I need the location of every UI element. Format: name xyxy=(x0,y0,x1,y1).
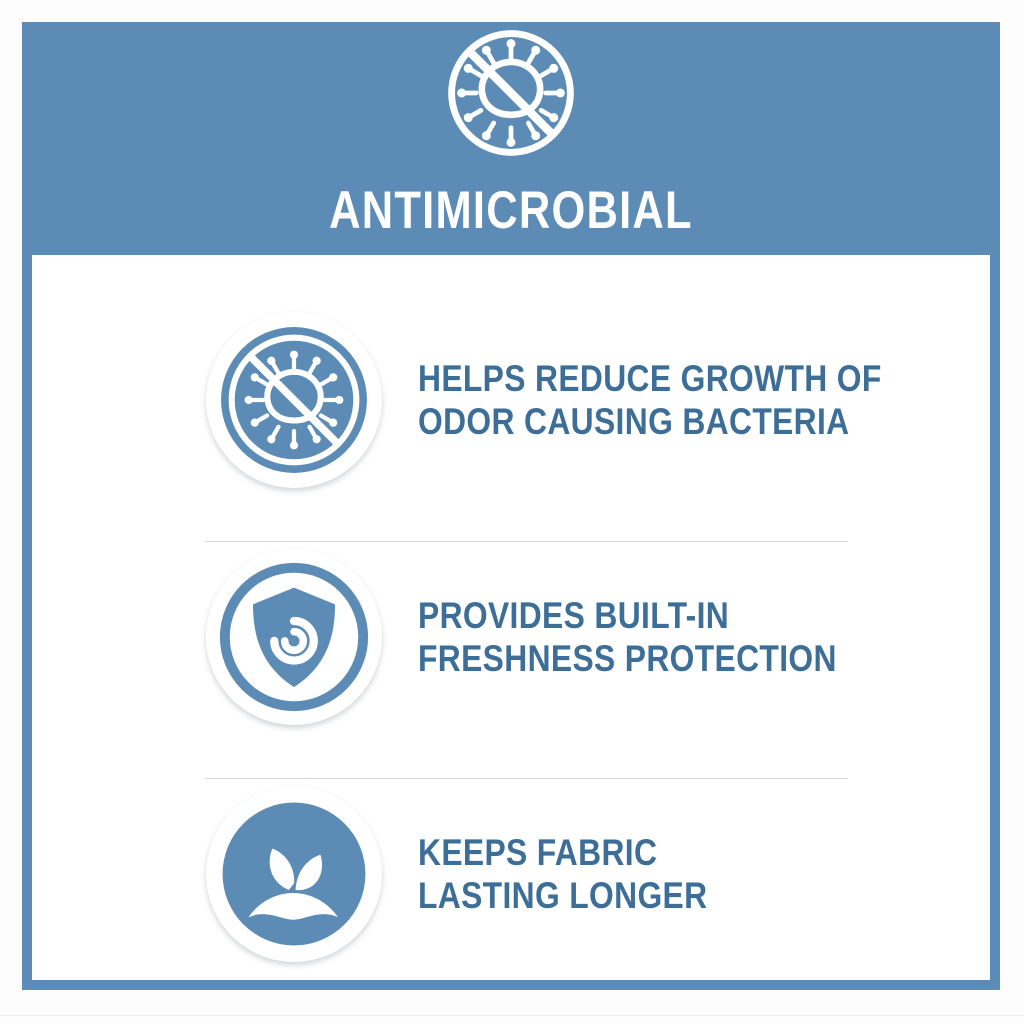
antimicrobial-panel: ANTIMICROBIAL xyxy=(22,22,1000,990)
no-germs-circle-icon xyxy=(206,312,382,488)
list-item-line-1: HELPS REDUCE GROWTH OF xyxy=(418,357,882,400)
leaf-sprout-icon xyxy=(206,786,382,962)
list-item: HELPS REDUCE GROWTH OF ODOR CAUSING BACT… xyxy=(32,293,990,507)
shield-spiral-icon xyxy=(206,549,382,725)
list-item-line-2: ODOR CAUSING BACTERIA xyxy=(418,400,882,443)
list-item-text: PROVIDES BUILT-IN FRESHNESS PROTECTION xyxy=(418,594,837,680)
feature-list: HELPS REDUCE GROWTH OF ODOR CAUSING BACT… xyxy=(32,255,990,980)
list-item: PROVIDES BUILT-IN FRESHNESS PROTECTION xyxy=(32,530,990,744)
list-item: KEEPS FABRIC LASTING LONGER xyxy=(32,767,990,981)
list-item-line-1: PROVIDES BUILT-IN xyxy=(418,594,837,637)
list-item-line-1: KEEPS FABRIC xyxy=(418,831,707,874)
panel-header: ANTIMICROBIAL xyxy=(32,32,990,255)
list-item-text: KEEPS FABRIC LASTING LONGER xyxy=(418,831,707,917)
no-germs-icon xyxy=(445,27,577,159)
list-item-line-2: FRESHNESS PROTECTION xyxy=(418,637,837,680)
infographic-canvas: ANTIMICROBIAL xyxy=(0,0,1024,1024)
list-item-text: HELPS REDUCE GROWTH OF ODOR CAUSING BACT… xyxy=(418,357,882,443)
list-item-line-2: LASTING LONGER xyxy=(418,874,707,917)
page-title: ANTIMICROBIAL xyxy=(118,182,904,240)
